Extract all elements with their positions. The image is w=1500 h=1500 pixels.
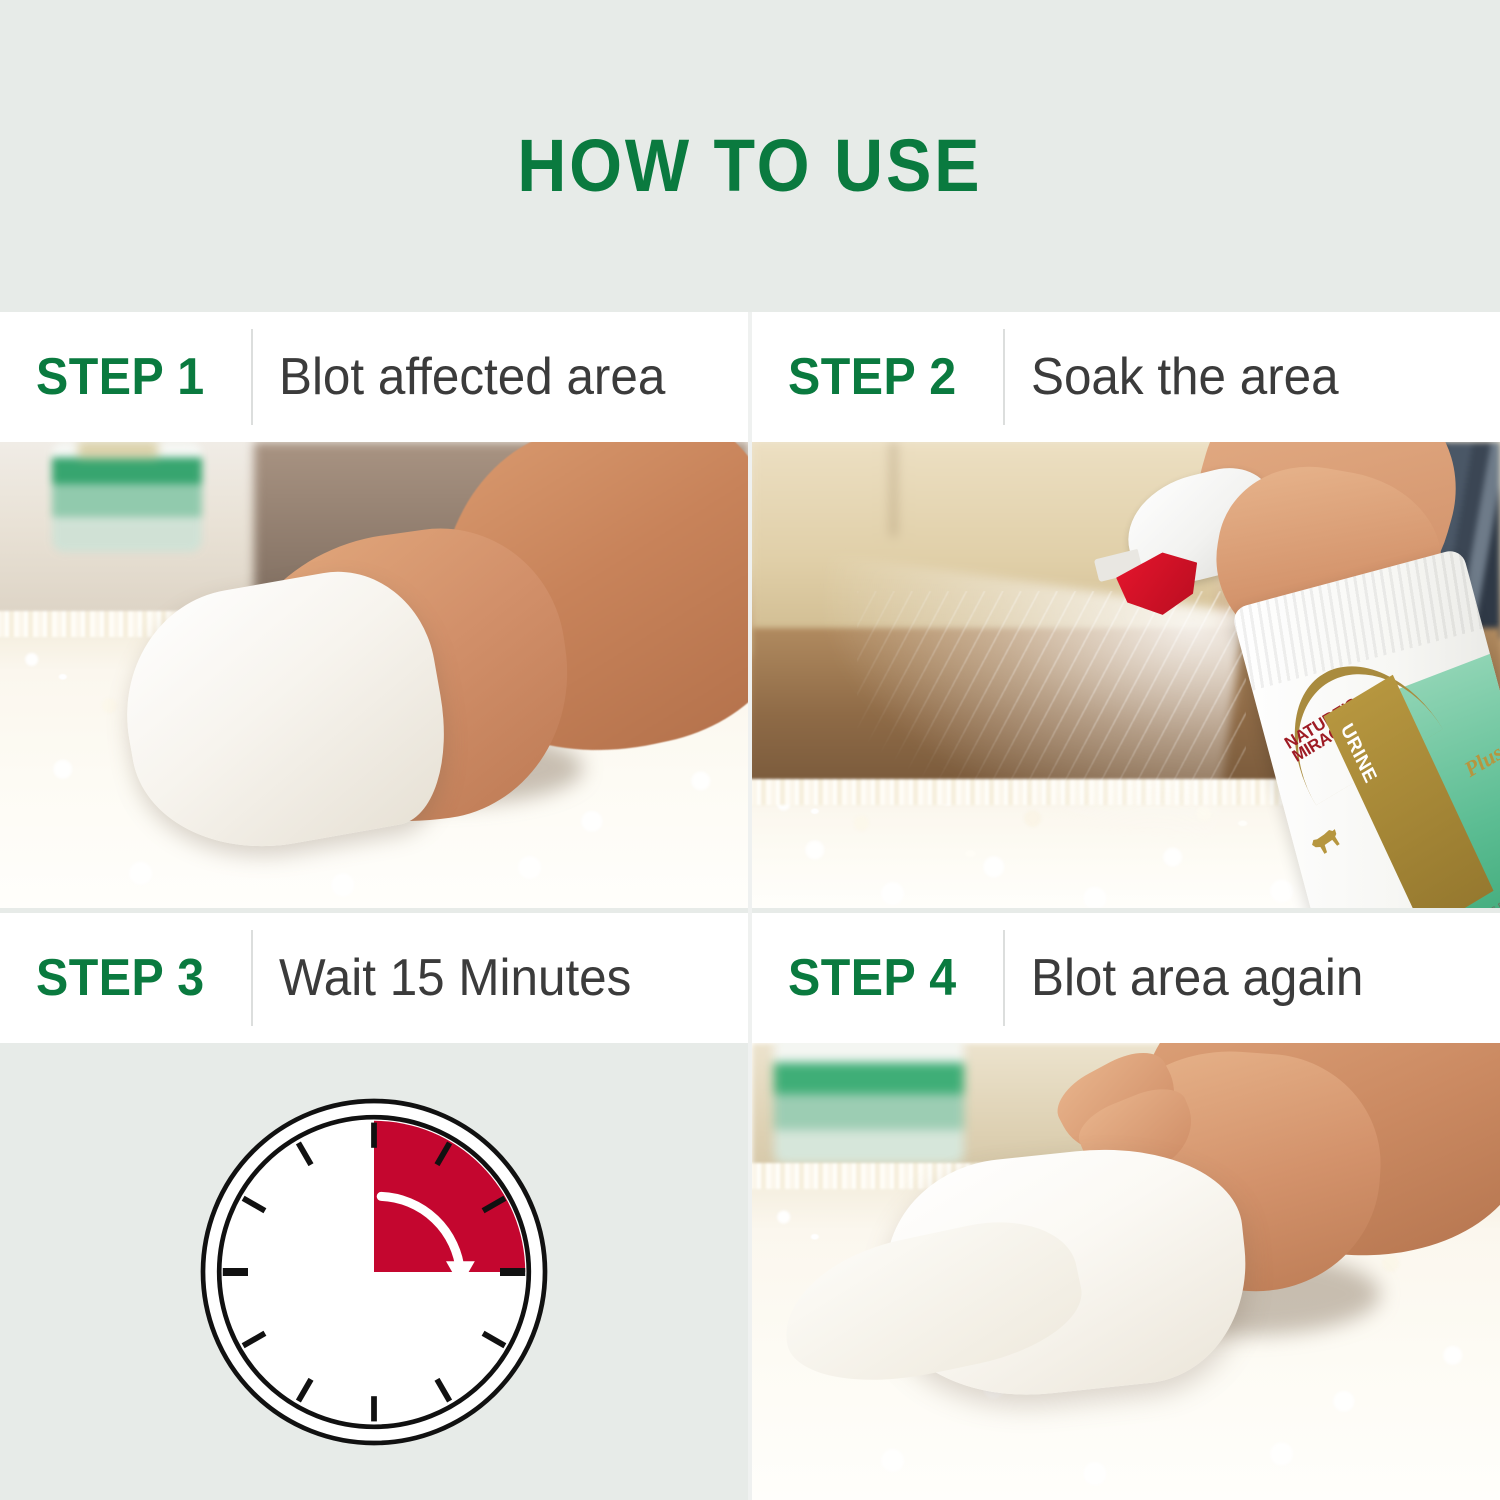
background-bottle (774, 1043, 964, 1164)
step-4-label: STEP 4 Blot area again (752, 913, 1500, 1043)
clock-icon (194, 1092, 554, 1452)
step-1-description: Blot affected area (279, 347, 665, 407)
page-title: HOW TO USE (517, 105, 982, 208)
step-4-photo (752, 1043, 1500, 1500)
step-3-number: STEP 3 (36, 948, 205, 1008)
label-divider (251, 329, 253, 425)
spray-stream (857, 591, 1246, 805)
header-band: HOW TO USE (0, 0, 1500, 312)
step-2-label: STEP 2 Soak the area (752, 312, 1500, 442)
dog-icon (1307, 824, 1344, 858)
step-1-label: STEP 1 Blot affected area (0, 312, 748, 442)
label-divider (1003, 329, 1005, 425)
step-1-number: STEP 1 (36, 347, 205, 407)
step-3-description: Wait 15 Minutes (279, 948, 631, 1008)
label-divider (251, 930, 253, 1026)
how-to-use-infographic: HOW TO USE STEP 1 Blot affected (0, 0, 1500, 1500)
clock-svg (194, 1092, 554, 1452)
step-2-number: STEP 2 (788, 347, 957, 407)
step-3-label: STEP 3 Wait 15 Minutes (0, 913, 748, 1043)
step-4-panel (752, 1043, 1500, 1500)
background-bottle-cap (78, 442, 158, 458)
step-3-illustration (0, 1043, 748, 1500)
step-2-photo: NATURE'S MIRACLE URINE Plus URINE ENZYMA… (752, 442, 1500, 908)
background-bottle (52, 442, 202, 552)
label-divider (1003, 930, 1005, 1026)
step-4-description: Blot area again (1031, 948, 1363, 1008)
sofa-seam (891, 442, 896, 536)
step-2-description: Soak the area (1031, 347, 1339, 407)
step-1-photo (0, 442, 748, 908)
step-4-number: STEP 4 (788, 948, 957, 1008)
